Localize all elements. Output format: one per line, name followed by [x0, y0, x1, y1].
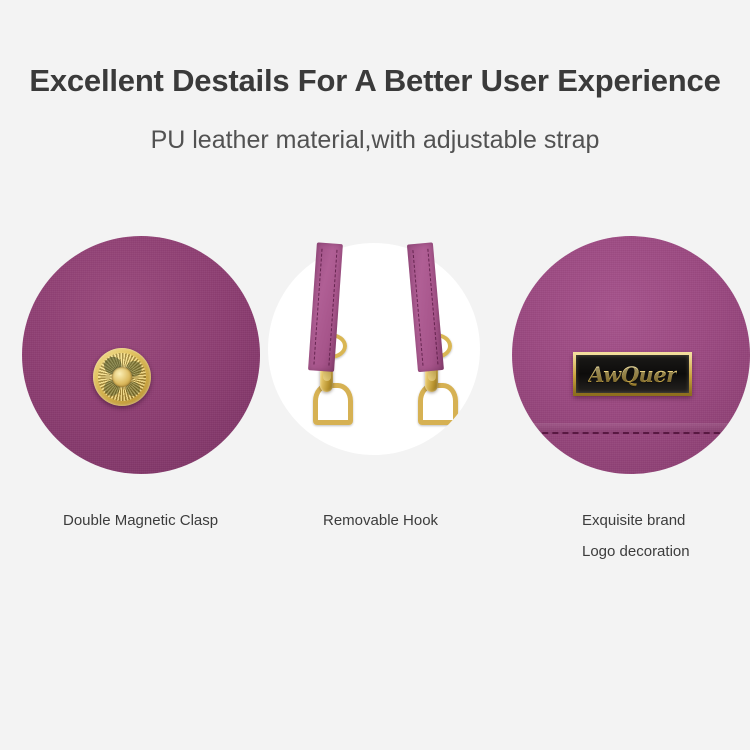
d-ring-right-icon — [418, 383, 458, 425]
caption-exquisite-brand-line1: Exquisite brand — [582, 512, 685, 529]
d-ring-left-icon — [313, 383, 353, 425]
page-subheadline: PU leather material,with adjustable stra… — [0, 126, 750, 155]
clasp-center-dot — [112, 367, 132, 387]
caption-removable-hook: Removable Hook — [323, 512, 438, 529]
product-detail-page: Excellent Destails For A Better User Exp… — [0, 0, 750, 750]
caption-double-magnetic-clasp: Double Magnetic Clasp — [63, 512, 218, 529]
brand-logo-plaque: AwQuer — [573, 352, 692, 396]
feature-photo-removable-hook — [268, 243, 480, 455]
brand-logo-text: AwQuer — [588, 362, 677, 387]
leather-seam-stitching — [512, 432, 750, 444]
page-headline: Excellent Destails For A Better User Exp… — [0, 63, 750, 99]
magnetic-clasp-button-icon — [93, 348, 151, 406]
strap-stitch-left — [313, 249, 322, 365]
caption-exquisite-brand-line2: Logo decoration — [582, 543, 690, 560]
